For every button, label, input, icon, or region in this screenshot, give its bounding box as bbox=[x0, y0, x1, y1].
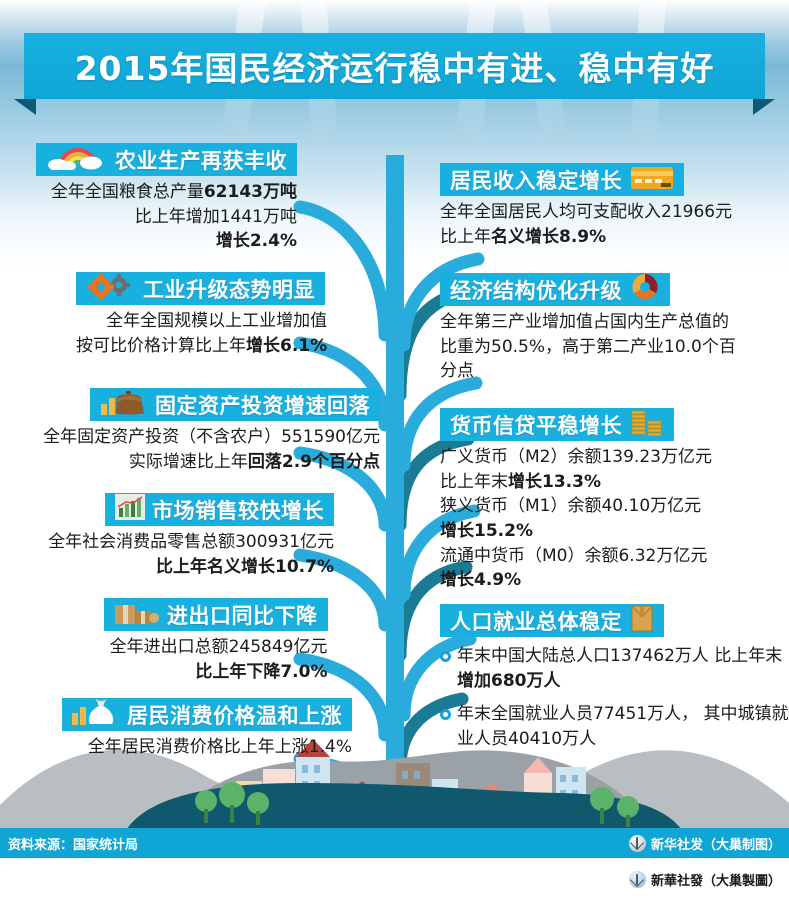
xinhua-logo-icon bbox=[629, 835, 646, 852]
section-title: 进出口同比下降 bbox=[167, 600, 318, 630]
body-emphasis: 比上年下降7.0% bbox=[195, 662, 327, 682]
credit-label-traditional: 新華社發（大巢製圖） bbox=[651, 870, 781, 889]
bullet-icon bbox=[440, 709, 451, 720]
section-title: 工业升级态势明显 bbox=[143, 274, 315, 304]
section-header[interactable]: 经济结构优化升级 bbox=[440, 273, 670, 306]
section-body: 全年进出口总额245849亿元 比上年下降7.0% bbox=[78, 635, 328, 684]
section-body: 全年全国规模以上工业增加值 按可比价格计算比上年增长6.1% bbox=[76, 309, 327, 358]
gears-icon bbox=[86, 273, 136, 304]
envelope-icon bbox=[630, 604, 654, 637]
body-emphasis: 比上年名义增长10.7% bbox=[156, 557, 334, 577]
section-retail-sales: 市场销售较快增长 全年社会消费品零售总额300931亿元 比上年名义增长10.7… bbox=[48, 493, 334, 579]
section-title: 固定资产投资增速回落 bbox=[155, 390, 370, 420]
body-text: 比上年 bbox=[440, 227, 491, 247]
section-body: 全年全国居民人均可支配收入21966元 比上年名义增长8.9% bbox=[440, 200, 732, 249]
body-text: 全年第三产业增加值占国内生产总值的 bbox=[440, 312, 729, 332]
body-emphasis: 增长4.9% bbox=[440, 570, 521, 590]
body-emphasis: 增长15.2% bbox=[440, 521, 533, 541]
money-bag-icon bbox=[72, 699, 120, 731]
section-agriculture: 农业生产再获丰收 全年全国粮食总产量62143万吨 比上年增加1441万吨 增长… bbox=[36, 143, 297, 254]
body-text: 全年全国粮食总产量 bbox=[51, 182, 204, 202]
section-body: 全年固定资产投资（不含农户）551590亿元 实际增速比上年回落2.9个百分点 bbox=[18, 425, 380, 474]
body-text: 比上年末 bbox=[440, 472, 508, 492]
body-text: 实际增速比上年 bbox=[129, 452, 248, 472]
body-emphasis: 增加680万人 bbox=[457, 671, 561, 691]
section-import-export: 进出口同比下降 全年进出口总额245849亿元 比上年下降7.0% bbox=[78, 598, 328, 684]
section-title: 居民消费价格温和上涨 bbox=[127, 700, 342, 730]
section-header[interactable]: 农业生产再获丰收 bbox=[36, 143, 297, 176]
body-text: 全年全国规模以上工业增加值 bbox=[106, 311, 327, 331]
footer-bar: 资料来源：国家统计局 新华社发（大巢制图） bbox=[0, 828, 789, 858]
section-title: 经济结构优化升级 bbox=[450, 275, 622, 305]
body-emphasis: 名义增长8.9% bbox=[491, 227, 606, 247]
section-header[interactable]: 货币信贷平稳增长 bbox=[440, 408, 674, 441]
body-text: 狭义货币（M1）余额40.10万亿元 bbox=[440, 496, 701, 516]
section-money-credit: 货币信贷平稳增长 广义货币（M2）余额139.23万亿元 比上年末增长13.3%… bbox=[440, 408, 712, 593]
section-title: 市场销售较快增长 bbox=[152, 495, 324, 525]
source-label: 资料来源：国家统计局 bbox=[8, 834, 138, 853]
body-text: 分点 bbox=[440, 361, 474, 381]
credit-block: 新华社发（大巢制图） bbox=[629, 834, 781, 853]
section-header[interactable]: 工业升级态势明显 bbox=[76, 272, 325, 305]
title-bar: 2015年国民经济运行稳中有进、稳中有好 bbox=[24, 33, 765, 99]
credit-card-icon bbox=[630, 164, 674, 196]
credit-block-traditional: 新華社發（大巢製圖） bbox=[629, 870, 781, 889]
section-title: 货币信贷平稳增长 bbox=[450, 410, 622, 440]
body-text: 全年进出口总额245849亿元 bbox=[110, 637, 328, 657]
section-header[interactable]: 固定资产投资增速回落 bbox=[90, 388, 380, 421]
section-fixed-asset-investment: 固定资产投资增速回落 全年固定资产投资（不含农户）551590亿元 实际增速比上… bbox=[18, 388, 380, 474]
section-industry: 工业升级态势明显 全年全国规模以上工业增加值 按可比价格计算比上年增长6.1% bbox=[76, 272, 327, 358]
title-banner: 2015年国民经济运行稳中有进、稳中有好 bbox=[0, 33, 789, 99]
section-title: 人口就业总体稳定 bbox=[450, 606, 622, 636]
purse-icon bbox=[100, 389, 148, 421]
section-header[interactable]: 居民收入稳定增长 bbox=[440, 163, 684, 196]
body-emphasis: 增长2.4% bbox=[216, 231, 297, 251]
section-body: 全年全国粮食总产量62143万吨 比上年增加1441万吨 增长2.4% bbox=[36, 180, 297, 254]
section-title: 农业生产再获丰收 bbox=[115, 145, 287, 175]
packages-icon bbox=[114, 599, 160, 630]
body-text: 比上年末 bbox=[714, 646, 782, 666]
body-text: 全年全国居民人均可支配收入21966元 bbox=[440, 202, 732, 222]
section-title: 居民收入稳定增长 bbox=[450, 165, 622, 195]
section-header[interactable]: 市场销售较快增长 bbox=[105, 493, 334, 526]
body-text: 流通中货币（M0）余额6.32万亿元 bbox=[440, 546, 707, 566]
body-text: 比上年增加1441万吨 bbox=[135, 207, 297, 227]
section-header[interactable]: 人口就业总体稳定 bbox=[440, 604, 664, 637]
section-cpi: 居民消费价格温和上涨 全年居民消费价格比上年上涨1.4% bbox=[62, 698, 352, 760]
bullet-icon bbox=[440, 651, 451, 662]
infographic-page: 2015年国民经济运行稳中有进、稳中有好 bbox=[0, 0, 789, 899]
rainbow-cloud-icon bbox=[46, 144, 108, 175]
section-resident-income: 居民收入稳定增长 全年全国居民人均可支配收入21966元 比上年名义增长8.9% bbox=[440, 163, 732, 249]
section-population-employment: 人口就业总体稳定 年末中国大陆总人口137462万人 比上年末增加680万人 bbox=[440, 604, 789, 761]
section-economic-structure: 经济结构优化升级 全年第三产业增加值占国内生产总值的 比重为50.5%，高于第二… bbox=[440, 273, 736, 384]
section-header[interactable]: 居民消费价格温和上涨 bbox=[62, 698, 352, 731]
section-body: 全年第三产业增加值占国内生产总值的 比重为50.5%，高于第二产业10.0个百 … bbox=[440, 310, 736, 384]
xinhua-logo-icon bbox=[629, 871, 646, 888]
body-text: 全年居民消费价格比上年上涨1.4% bbox=[88, 737, 352, 757]
section-header[interactable]: 进出口同比下降 bbox=[104, 598, 328, 631]
list-item: 年末中国大陆总人口137462万人 比上年末增加680万人 bbox=[440, 644, 789, 693]
credit-label: 新华社发（大巢制图） bbox=[651, 834, 781, 853]
section-body: 广义货币（M2）余额139.23万亿元 比上年末增长13.3% 狭义货币（M1）… bbox=[440, 445, 712, 593]
body-text: 比重为50.5%，高于第二产业10.0个百 bbox=[440, 337, 736, 357]
body-text: 按可比价格计算比上年 bbox=[76, 336, 246, 356]
body-emphasis: 增长13.3% bbox=[508, 472, 601, 492]
body-text: 年末全国就业人员77451万人， bbox=[457, 704, 698, 724]
donut-chart-icon bbox=[630, 273, 660, 306]
body-emphasis: 62143万吨 bbox=[204, 182, 297, 202]
bar-chart-icon bbox=[115, 494, 145, 525]
body-text: 全年社会消费品零售总额300931亿元 bbox=[48, 532, 334, 552]
section-body: 全年社会消费品零售总额300931亿元 比上年名义增长10.7% bbox=[48, 530, 334, 579]
list-item: 年末全国就业人员77451万人， 其中城镇就业人员40410万人 bbox=[440, 702, 789, 751]
coin-stacks-icon bbox=[630, 408, 664, 441]
body-emphasis: 回落2.9个百分点 bbox=[248, 452, 380, 472]
body-emphasis: 增长6.1% bbox=[246, 336, 327, 356]
bullet-list: 年末中国大陆总人口137462万人 比上年末增加680万人 年末全国就业人员77… bbox=[440, 644, 789, 752]
body-text: 全年固定资产投资（不含农户）551590亿元 bbox=[43, 427, 380, 447]
body-text: 年末中国大陆总人口137462万人 bbox=[457, 646, 709, 666]
page-title: 2015年国民经济运行稳中有进、稳中有好 bbox=[75, 42, 715, 90]
section-body: 全年居民消费价格比上年上涨1.4% bbox=[62, 735, 352, 760]
body-text: 广义货币（M2）余额139.23万亿元 bbox=[440, 447, 712, 467]
